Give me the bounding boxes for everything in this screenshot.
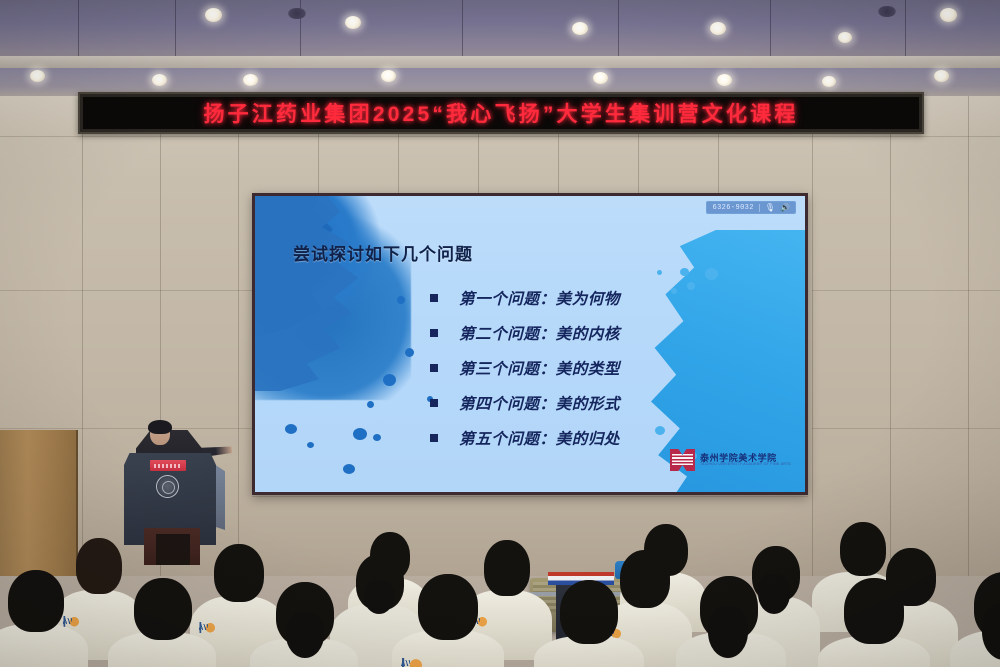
ceiling-downlight (152, 74, 167, 86)
bullet-label: 第二个问题：美的内核 (459, 322, 620, 344)
logo-text-block: 泰州学院美术学院 TAIZHOU UNIVERSITY ACADEMY OF F… (700, 454, 791, 467)
speaker-glasses (151, 430, 169, 434)
badge-code-text: 6326-9032 (712, 204, 753, 212)
wall-seam-horizontal (0, 428, 252, 429)
wall-seam-horizontal (812, 428, 1000, 429)
paint-splatter (343, 464, 355, 474)
ceiling-downlight (593, 72, 608, 84)
ceiling-downlight (345, 16, 361, 29)
bullet-square-icon (430, 399, 438, 407)
ceiling-trim-band (0, 56, 1000, 68)
ceiling-downlight (205, 8, 222, 22)
ceiling-vent (288, 8, 306, 19)
audience-seating-area (0, 520, 1000, 667)
bullet-square-icon (430, 329, 438, 337)
ceiling-downlight (717, 74, 732, 86)
audience-head (484, 540, 530, 596)
status-badge: 6326-9032 🎙 🔊 (706, 201, 796, 214)
ceiling-vent (878, 6, 896, 17)
bullet-label: 第四个问题：美的形式 (459, 392, 620, 414)
bullet-square-icon (430, 434, 438, 442)
tshirt-logo (198, 622, 215, 633)
ceiling-downlight (838, 32, 852, 43)
wall-seam (238, 96, 239, 576)
ceiling-seam (618, 0, 619, 56)
logo-name-en: TAIZHOU UNIVERSITY ACADEMY OF FINE ARTS (700, 463, 791, 467)
tshirt-logo (400, 658, 422, 667)
projection-screen-bezel: 尝试探讨如下几个问题 第一个问题：美为何物 第二个问题：美的内核 第三个问题：美… (252, 193, 808, 495)
audience-head (418, 574, 478, 640)
ceiling-downlight (381, 70, 396, 82)
paint-splatter (705, 268, 718, 280)
institution-logo: 泰州学院美术学院 TAIZHOU UNIVERSITY ACADEMY OF F… (670, 449, 791, 471)
paint-splatter (405, 348, 414, 357)
bullet-label: 第一个问题：美为何物 (459, 287, 620, 309)
slide-bullet-list: 第一个问题：美为何物 第二个问题：美的内核 第三个问题：美的类型 第四个问题：美… (430, 287, 760, 462)
paint-splatter (680, 268, 689, 276)
wall-seam-horizontal (0, 136, 1000, 137)
bullet-square-icon (430, 294, 438, 302)
ceiling-downlight (822, 76, 836, 87)
ceiling-seam (770, 0, 771, 56)
podium-nameplate (150, 460, 186, 471)
bullet-label: 第五个问题：美的归处 (459, 427, 620, 449)
led-banner-frame: 扬子江药业集团2025“我心飞扬”大学生集训营文化课程 (78, 92, 924, 134)
logo-mark-icon (670, 449, 695, 471)
paint-splatter (657, 270, 662, 275)
bullet-label: 第三个问题：美的类型 (459, 357, 620, 379)
audience-head (840, 522, 886, 576)
audience-head (844, 578, 904, 644)
audience-head (620, 550, 670, 608)
ceiling-seam (462, 0, 463, 56)
microphone-icon: 🎙 (765, 204, 775, 212)
wall-seam (82, 96, 83, 576)
wall-seam (968, 96, 969, 576)
wall-seam (890, 96, 891, 576)
wall-seam-horizontal (252, 496, 808, 497)
ceiling-downlight (710, 22, 726, 35)
led-banner-screen: 扬子江药业集团2025“我心飞扬”大学生集训营文化课程 (83, 97, 919, 129)
paint-splatter (373, 434, 381, 441)
audience-ponytail (758, 574, 790, 614)
paint-splatter (307, 442, 314, 448)
ceiling-downlight (934, 70, 949, 82)
ceiling-seam (78, 0, 79, 56)
audience-ponytail (708, 606, 748, 658)
paint-splatter (285, 424, 297, 434)
ceiling-downlight (572, 22, 588, 35)
bullet-square-icon (430, 364, 438, 372)
ceiling-downlight (243, 74, 258, 86)
badge-divider (759, 204, 760, 212)
podium-emblem-icon (156, 475, 179, 498)
paint-splatter (367, 401, 374, 408)
audience-head (8, 570, 64, 632)
list-item: 第三个问题：美的类型 (430, 357, 760, 379)
tshirt-logo (62, 616, 79, 627)
paint-splatter (353, 428, 367, 440)
list-item: 第二个问题：美的内核 (430, 322, 760, 344)
slide-title: 尝试探讨如下几个问题 (293, 240, 473, 265)
audience-head (214, 544, 264, 602)
wall-seam-horizontal (812, 290, 1000, 291)
list-item: 第五个问题：美的归处 (430, 427, 760, 449)
ceiling-seam (905, 0, 906, 56)
ceiling-downlight (940, 8, 957, 22)
paint-splatter (397, 296, 405, 304)
list-item: 第四个问题：美的形式 (430, 392, 760, 414)
conference-hall-photo: 扬子江药业集团2025“我心飞扬”大学生集训营文化课程 (0, 0, 1000, 667)
audience-head (134, 578, 192, 640)
speaker-volume-icon: 🔊 (780, 204, 790, 212)
list-item: 第一个问题：美为何物 (430, 287, 760, 309)
audience-head (560, 580, 618, 644)
ceiling-seam (175, 0, 176, 56)
audience-ponytail (364, 580, 394, 614)
wall-seam-horizontal (0, 290, 252, 291)
paint-splatter (383, 374, 396, 386)
ceiling-downlight (30, 70, 45, 82)
presentation-slide: 尝试探讨如下几个问题 第一个问题：美为何物 第二个问题：美的内核 第三个问题：美… (255, 196, 805, 492)
wall-seam (812, 96, 813, 576)
audience-ponytail (286, 612, 324, 658)
audience-head (76, 538, 122, 594)
led-banner-text: 扬子江药业集团2025“我心飞扬”大学生集训营文化课程 (203, 98, 798, 128)
